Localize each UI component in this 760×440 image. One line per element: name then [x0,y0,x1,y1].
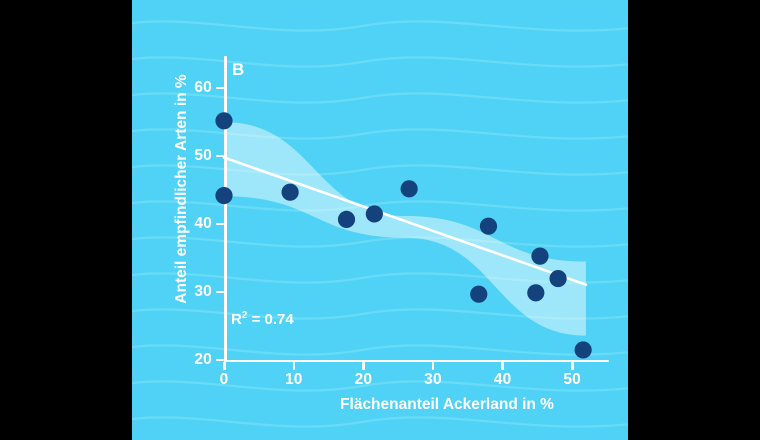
chart-panel: 60 50 40 30 20 0 10 20 30 40 50 [132,0,628,440]
data-point [470,286,487,303]
plot-area: 60 50 40 30 20 0 10 20 30 40 50 [132,0,628,440]
data-point [575,341,592,358]
data-point [215,187,232,204]
data-point [401,180,418,197]
r-squared-annotation: R2 = 0.74 [231,310,294,328]
chart-graphics [132,0,628,440]
data-point [527,284,544,301]
regression-line [224,158,586,285]
x-axis-title: Flächenanteil Ackerland in % [282,396,612,414]
panel-letter-label: B [232,60,244,80]
data-point [338,211,355,228]
data-point [480,218,497,235]
data-point [549,270,566,287]
data-point [215,112,232,129]
y-axis-title: Anteil empfindlicher Arten in % [173,59,191,319]
data-point [366,205,383,222]
data-point [282,184,299,201]
data-point [531,248,548,265]
figure-canvas: 60 50 40 30 20 0 10 20 30 40 50 [0,0,760,440]
confidence-band [224,122,586,336]
